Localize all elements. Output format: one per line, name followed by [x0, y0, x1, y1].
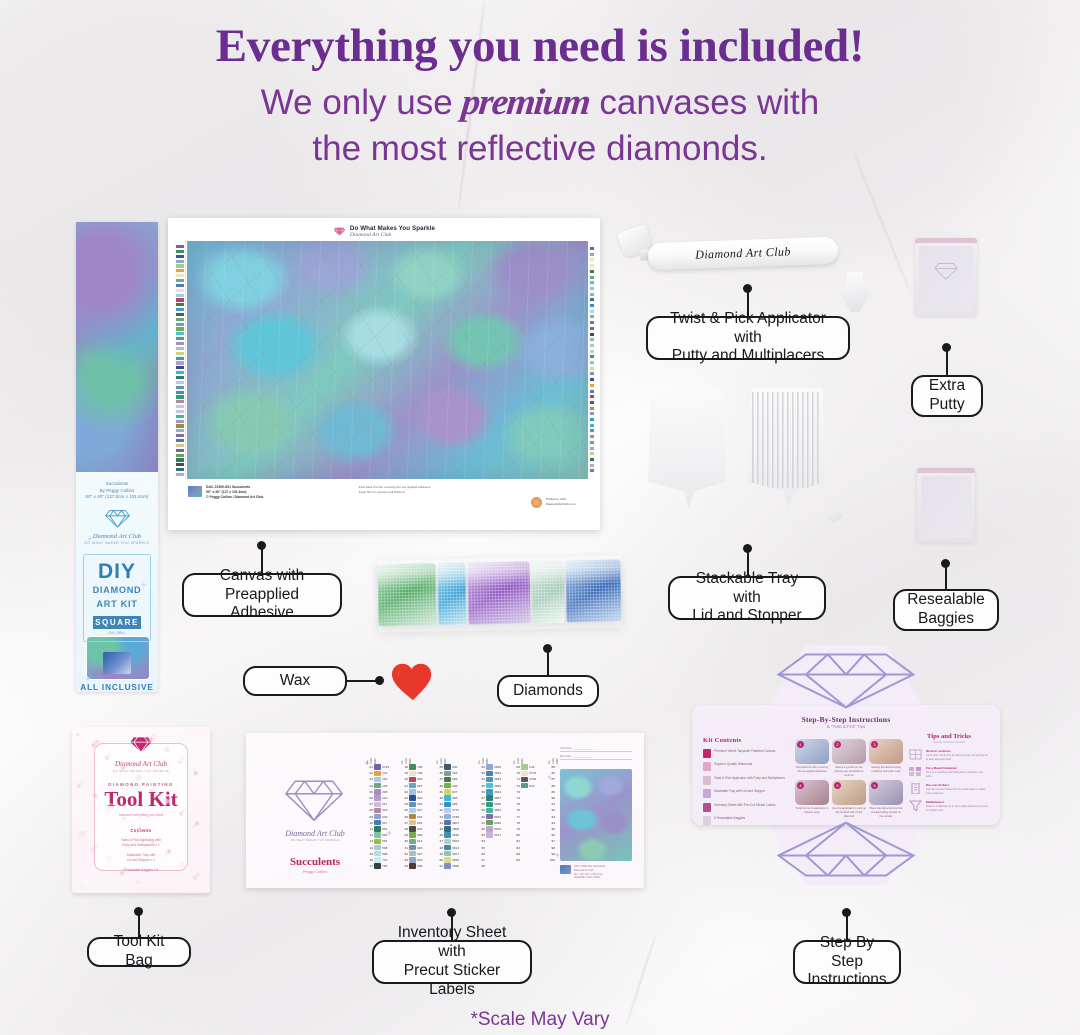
inventory-row-number: 04: [366, 784, 373, 788]
inventory-row-number: 43: [436, 815, 443, 819]
confetti-icon: ✦: [195, 871, 201, 879]
inventory-dmc-code: 3810: [452, 833, 464, 837]
confetti-icon: ◇: [151, 733, 156, 741]
inventory-color-swatch: [444, 808, 450, 813]
inventory-row-number: 36: [436, 771, 443, 775]
infographic-stage: Everything you need is included! We only…: [0, 0, 1080, 1035]
inventory-color-swatch: [374, 783, 380, 788]
inventory-color-swatch: [409, 845, 415, 850]
inventory-color-swatch: [521, 771, 527, 776]
tip-icon: [909, 749, 922, 760]
inventory-dmc-code: 802: [417, 777, 429, 781]
inventory-brand-script: Diamond Art Club: [274, 829, 356, 838]
legend-chip: [590, 361, 594, 364]
diamond-logo-icon: [282, 775, 346, 825]
inventory-row-number: 83: [513, 852, 520, 856]
inventory-color-swatch: [409, 820, 415, 825]
inventory-header-cell: DMC: [556, 751, 559, 764]
legend-chip: [176, 434, 184, 437]
leader-dot: [257, 541, 266, 550]
inventory-color-swatch: [409, 832, 415, 837]
tool-kit-content-item: Resealable Baggies x 5: [95, 868, 187, 873]
inventory-row-number: 61: [478, 821, 485, 825]
legend-chip: [176, 415, 184, 418]
inventory-dmc-code: 996: [452, 796, 464, 800]
inventory-row-number: 75: [513, 802, 520, 806]
legend-chip: [590, 367, 594, 370]
inventory-row-number: 84: [513, 858, 520, 862]
inventory-row: 34938: [401, 863, 429, 869]
instruction-step-number: 3: [871, 741, 878, 748]
inventory-row-number: 60: [478, 815, 485, 819]
inventory-header-cell: DMC: [374, 751, 377, 764]
inventory-dmc-code: 3814: [452, 846, 464, 850]
inventory-dmc-code: 930: [452, 765, 464, 769]
kit-contents-item-icon: [703, 749, 711, 758]
inventory-row-number: 29: [401, 833, 408, 837]
kit-diy-label: DIY: [87, 562, 147, 582]
inventory-row-number: 28: [401, 827, 408, 831]
inventory-dmc-code: 746: [417, 771, 429, 775]
baggie-sheen: [377, 555, 621, 632]
inventory-dmc-code: 3843: [494, 790, 506, 794]
inventory-row-number: 94: [548, 821, 555, 825]
inventory-color-swatch: [409, 802, 415, 807]
inventory-color-swatch: [409, 783, 415, 788]
inventory-color-swatch: [374, 826, 380, 831]
inventory-column-header: No.ColorDMC: [478, 751, 506, 764]
baggie-zip: [915, 238, 977, 243]
inventory-color-swatch: [374, 839, 380, 844]
inventory-row-number: 46: [436, 833, 443, 837]
inventory-color-swatch: [374, 857, 380, 862]
leader-dot: [743, 544, 752, 553]
inventory-color-swatch: [444, 839, 450, 844]
inventory-row: 17783: [366, 863, 394, 869]
canvas-seal-icon: [531, 497, 542, 508]
inventory-row-number: 44: [436, 821, 443, 825]
inventory-row-number: 14: [366, 846, 373, 850]
tips-panel: Tips and Tricks Get the most out of your…: [909, 733, 989, 812]
legend-chip: [590, 447, 594, 450]
confetti-icon: ◆: [165, 797, 170, 805]
inventory-row-number: 62: [478, 827, 485, 831]
canvas-footer: DAC-72390-S01 Succulents 50" x 40" (127 …: [174, 481, 594, 525]
inventory-dmc-code: 3851: [494, 808, 506, 812]
inventory-color-swatch: [521, 808, 527, 813]
inventory-color-swatch: [444, 863, 450, 868]
inventory-color-swatch: [521, 832, 527, 837]
inventory-column: No.ColorDMC52384053384254384355384656384…: [478, 751, 506, 869]
inventory-dmc-code: 3746: [382, 765, 394, 769]
inventory-row-number: 90: [548, 796, 555, 800]
inventory-dmc-code: 3817: [452, 852, 464, 856]
legend-chip: [176, 400, 184, 403]
inventory-color-swatch: [444, 789, 450, 794]
confetti-icon: ❁: [80, 830, 86, 838]
inventory-row-number: 56: [478, 790, 485, 794]
legend-chip: [176, 366, 184, 369]
legend-chip: [176, 255, 184, 258]
inventory-row-number: 21: [401, 784, 408, 788]
diy-kit-box: Succulents By Peggy Collins 50" x 40" (1…: [76, 222, 158, 692]
canvas-right-strip: [589, 241, 594, 479]
inventory-row-number: 30: [401, 839, 408, 843]
inventory-color-swatch: [409, 795, 415, 800]
tip-body: Use the included sticker from the pack l…: [926, 788, 989, 795]
inventory-row-number: 68: [478, 864, 485, 868]
inventory-color-swatch: [521, 839, 527, 844]
legend-chip: [590, 469, 594, 472]
kit-contents-item-icon: [703, 789, 711, 798]
callout-canvas[interactable]: Canvas with Preapplied Adhesive: [182, 573, 342, 617]
inventory-dmc-code: 3808: [452, 827, 464, 831]
inventory-row-number: 88: [548, 784, 555, 788]
legend-chip: [176, 473, 184, 476]
callout-tool-kit-bag[interactable]: Tool Kit Bag: [87, 937, 191, 967]
legend-chip: [176, 405, 184, 408]
inventory-color-swatch: [409, 857, 415, 862]
inventory-color-swatch: [409, 771, 415, 776]
diamond-outline-icon: [771, 819, 921, 881]
inventory-color-swatch: [486, 857, 492, 862]
leader-dot: [842, 908, 851, 917]
inventory-color-swatch: [444, 820, 450, 825]
canvas-color-legend-strip: [174, 241, 186, 479]
inventory-color-swatch: [374, 808, 380, 813]
kit-contents-item: Superior Quality Diamonds: [703, 762, 785, 771]
inventory-row-number: 98: [548, 846, 555, 850]
inventory-color-swatch: [374, 863, 380, 868]
kit-contents-item-label: Superior Quality Diamonds: [714, 762, 752, 767]
inventory-dmc-code: 913: [417, 839, 429, 843]
inventory-row-number: 85: [548, 765, 555, 769]
subtitle-part-1: We only use: [261, 83, 463, 122]
leader-dot: [942, 343, 951, 352]
sparkle-icon: ✦: [84, 674, 92, 685]
inventory-row-number: 24: [401, 802, 408, 806]
inventory-dmc-code: 8010: [494, 827, 506, 831]
confetti-icon: ◇: [123, 761, 128, 769]
kit-contents-item: Premium Velvet Tarpaulin Patented Canvas: [703, 749, 785, 758]
inventory-color-swatch: [486, 814, 492, 819]
kit-contents-item-icon: [703, 816, 711, 825]
inventory-color-swatch: [374, 851, 380, 856]
kit-contents-item: Stackable Tray with Lid and Stopper: [703, 789, 785, 798]
inventory-column-header: No.ColorDMC: [366, 751, 394, 764]
legend-chip: [176, 361, 184, 364]
inventory-dmc-code: 927: [417, 852, 429, 856]
confetti-icon: ❀: [150, 838, 156, 846]
inventory-color-swatch: [374, 795, 380, 800]
inventory-color-swatch: [486, 863, 492, 868]
legend-chip: [176, 250, 184, 253]
confetti-icon: ♡: [106, 856, 112, 864]
confetti-icon: ✦: [75, 731, 81, 739]
instruction-step-number: 4: [797, 782, 804, 789]
inventory-row-number: 99: [548, 852, 555, 856]
inventory-row-number: 86: [548, 771, 555, 775]
headline-subtitle: We only use premium canvases with the mo…: [0, 79, 1080, 171]
instruction-step-caption: Place the diamond onto the corresponding…: [869, 807, 903, 818]
legend-chip: [590, 395, 594, 398]
inventory-color-swatch: [521, 777, 527, 782]
inventory-row-number: 09: [366, 815, 373, 819]
inventory-column: No.ColorDMC69L4970377071379972R417374757…: [513, 751, 541, 869]
callout-extra-putty[interactable]: Extra Putty: [911, 375, 983, 417]
inventory-color-swatch: [444, 851, 450, 856]
inventory-row-number: 03: [366, 777, 373, 781]
inventory-color-swatch: [444, 777, 450, 782]
callout-tray[interactable]: Stackable Tray with Lid and Stopper: [668, 576, 826, 620]
tip-body: Close your canvas film for areas you are…: [926, 754, 989, 761]
inventory-color-swatch: [486, 777, 492, 782]
diamond-logo-icon: [104, 508, 131, 529]
inventory-dmc-code: 517: [382, 821, 394, 825]
inventory-row-number: 58: [478, 802, 485, 806]
inventory-row-number: 25: [401, 808, 408, 812]
inventory-dmc-code: 807: [417, 784, 429, 788]
legend-chip: [590, 298, 594, 301]
legend-chip: [590, 247, 594, 250]
legend-chip: [176, 245, 184, 248]
inventory-row-number: 78: [513, 821, 520, 825]
instruction-step-caption: Twist the tip of applicator to release p…: [795, 807, 829, 815]
inventory-dmc-code: 581: [382, 839, 394, 843]
inventory-color-swatch: [409, 851, 415, 856]
instruction-step-number: 5: [834, 782, 841, 789]
legend-chip: [176, 410, 184, 413]
inventory-color-swatch: [444, 802, 450, 807]
kit-contents-item: 5 Resealable Baggies: [703, 816, 785, 825]
instruction-step-image: 4: [795, 780, 829, 805]
headline-block: Everything you need is included! We only…: [0, 22, 1080, 172]
inventory-row-number: 74: [513, 796, 520, 800]
legend-chip: [590, 258, 594, 261]
sparkle-icon: ✦: [140, 580, 148, 591]
inventory-dmc-code: 906: [452, 784, 464, 788]
inventory-header-cell: Color: [370, 751, 373, 764]
inventory-artwork-thumb: [560, 769, 632, 861]
inventory-row-number: 79: [513, 827, 520, 831]
inventory-header-cell: No.: [366, 751, 369, 764]
inventory-row-number: 77: [513, 815, 520, 819]
inventory-dmc-code: 598: [382, 846, 394, 850]
inventory-dmc-code: 3839: [452, 864, 464, 868]
confetti-icon: ✺: [92, 792, 98, 800]
inventory-field: Start Date: ______________: [560, 747, 632, 752]
callout-wax[interactable]: Wax: [243, 666, 347, 696]
inventory-row-number: 20: [401, 777, 408, 781]
confetti-icon: ◆: [193, 769, 198, 777]
inventory-color-swatch: [521, 802, 527, 807]
subtitle-part-2: canvases with: [590, 83, 820, 122]
inventory-color-swatch: [521, 845, 527, 850]
instruction-step-image: 6: [869, 780, 903, 805]
inventory-dmc-code: 834: [417, 821, 429, 825]
inventory-footer-text: DAC-72390-S01 Succulents Diamond Art Clu…: [574, 865, 605, 880]
inventory-color-swatch: [521, 795, 527, 800]
inventory-dmc-code: 3807: [452, 821, 464, 825]
inventory-row-number: 70: [513, 771, 520, 775]
instruction-step-caption: Select a symbol on the canvas you would …: [832, 766, 866, 777]
callout-applicator[interactable]: Twist & Pick Applicator with Putty and M…: [646, 316, 850, 360]
tip-body: Pour in a matching color diamonds to org…: [926, 771, 989, 778]
tool-kit-bag: Diamond Art Club DO WHAT MAKES YOU SPARK…: [72, 727, 210, 893]
inventory-color-swatch: [486, 771, 492, 776]
legend-chip: [590, 441, 594, 444]
legend-chip: [176, 318, 184, 321]
inventory-date-fields: Start Date: ______________ End Date: ___…: [560, 747, 632, 762]
inventory-dmc-code: 813: [417, 790, 429, 794]
extra-putty-baggie: [915, 238, 977, 316]
inventory-row-number: 91: [548, 802, 555, 806]
kit-diy-frame: DIY DIAMOND ART KIT SQUARE FULL DRILL: [83, 554, 151, 642]
legend-chip: [590, 390, 594, 393]
inventory-header-cell: Color: [517, 751, 520, 764]
inventory-dmc-code: 3799: [529, 777, 541, 781]
legend-chip: [176, 468, 184, 471]
callout-instructions[interactable]: Step By Step Instructions: [793, 940, 901, 984]
tool-kit-tagline: Includes everything you need: [95, 813, 187, 817]
inventory-row-number: 22: [401, 790, 408, 794]
legend-chip: [176, 303, 184, 306]
step-by-step-instruction-sheet: Step-By-Step Instructions & "Twist & Pic…: [692, 645, 1000, 885]
inventory-header-cell: No.: [436, 751, 439, 764]
kit-contents-item-label: Inventory Sheet with Pre-Cut Sticker Lab…: [714, 803, 776, 808]
kit-contents-item-icon: [703, 762, 711, 771]
callout-inventory-sheet[interactable]: Inventory Sheet with Precut Sticker Labe…: [372, 940, 532, 984]
inventory-color-swatch: [486, 789, 492, 794]
instruction-step: 1Peel back the film covering the pre-app…: [795, 739, 829, 777]
inventory-dmc-code: 700: [417, 765, 429, 769]
inventory-row-number: 35: [436, 765, 443, 769]
inventory-dmc-code: 210: [382, 796, 394, 800]
inventory-row-number: 12: [366, 833, 373, 837]
legend-chip: [590, 276, 594, 279]
inventory-dmc-code: 4071: [494, 833, 506, 837]
legend-chip: [176, 449, 184, 452]
kit-contents-item: Twist & Pick Applicator with Putty and M…: [703, 776, 785, 785]
kit-box-chip: [103, 652, 131, 674]
inventory-dmc-code: 3847: [494, 796, 506, 800]
legend-chip: [590, 344, 594, 347]
inventory-row-number: 63: [478, 833, 485, 837]
premium-word: premium: [460, 79, 592, 126]
kit-contents-heading: Kit Contents: [703, 737, 785, 744]
inventory-row-number: 80: [513, 833, 520, 837]
inventory-row-number: 81: [513, 839, 520, 843]
inventory-row-number: 67: [478, 858, 485, 862]
legend-chip: [590, 264, 594, 267]
inventory-row-number: 73: [513, 790, 520, 794]
inventory-dmc-code: 208: [382, 790, 394, 794]
inventory-row-number: 05: [366, 790, 373, 794]
inventory-row-number: 47: [436, 839, 443, 843]
tip-body: Attach a multiplacer tip to set multiple…: [926, 805, 989, 812]
inventory-dmc-code: 8001: [494, 815, 506, 819]
inventory-dmc-code: 995: [452, 802, 464, 806]
callout-resealable-baggies[interactable]: Resealable Baggies: [893, 589, 999, 631]
inventory-row-number: 07: [366, 802, 373, 806]
legend-chip: [176, 439, 184, 442]
inventory-color-swatch: [444, 795, 450, 800]
inventory-color-swatch: [409, 863, 415, 868]
instruction-step-number: 2: [834, 741, 841, 748]
inventory-dmc-code: 3843: [494, 777, 506, 781]
inventory-row: 68: [478, 863, 506, 869]
inventory-color-swatch: [409, 764, 415, 769]
inventory-row-number: 23: [401, 796, 408, 800]
inventory-color-swatch: [486, 839, 492, 844]
instruction-step: 5Use the applicator to pick up the facet…: [832, 780, 866, 818]
inventory-color-swatch: [444, 764, 450, 769]
instruction-step-image: 1: [795, 739, 829, 764]
tip-title: Pre-cut stickers: [926, 783, 989, 787]
inventory-row-number: 89: [548, 790, 555, 794]
inventory-color-swatch: [409, 839, 415, 844]
inventory-color-swatch: [374, 789, 380, 794]
kit-contents-item-label: Stackable Tray with Lid and Stopper: [714, 789, 765, 794]
legend-chip: [176, 347, 184, 350]
legend-chip: [176, 323, 184, 326]
legend-chip: [176, 352, 184, 355]
inventory-row-number: 48: [436, 846, 443, 850]
inventory-color-swatch: [374, 832, 380, 837]
legend-chip: [590, 304, 594, 307]
inventory-color-swatch: [374, 845, 380, 850]
legend-chip: [590, 412, 594, 415]
inventory-dmc-code: 162: [382, 777, 394, 781]
kit-contents-item-icon: [703, 803, 711, 812]
inventory-row-number: 33: [401, 858, 408, 862]
inventory-row-number: 37: [436, 777, 443, 781]
inventory-row-number: 10: [366, 821, 373, 825]
inventory-row-number: 52: [478, 765, 485, 769]
legend-chip: [590, 315, 594, 318]
inventory-dmc-code: 905: [452, 777, 464, 781]
inventory-row-number: 55: [478, 784, 485, 788]
legend-chip: [176, 298, 184, 301]
tip-title: Multiplacers: [926, 800, 989, 804]
inventory-header-cell: Color: [552, 751, 555, 764]
inventory-header-cell: DMC: [444, 751, 447, 764]
kit-contents-item: Inventory Sheet with Pre-Cut Sticker Lab…: [703, 803, 785, 812]
legend-chip: [176, 274, 184, 277]
legend-chip: [176, 454, 184, 457]
kit-contents-panel: Kit Contents Premium Velvet Tarpaulin Pa…: [703, 737, 785, 825]
inventory-header-cell: No.: [401, 751, 404, 764]
inventory-dmc-code: 3813: [452, 839, 464, 843]
inventory-row-number: 72: [513, 784, 520, 788]
inventory-color-swatch: [521, 820, 527, 825]
callout-diamonds[interactable]: Diamonds: [497, 675, 599, 707]
inventory-row-number: 96: [548, 833, 555, 837]
inventory-color-swatch: [486, 764, 492, 769]
inventory-color-swatch: [374, 814, 380, 819]
inventory-color-swatch: [444, 771, 450, 776]
inventory-color-swatch: [409, 826, 415, 831]
inventory-row-number: 50: [436, 858, 443, 862]
confetti-icon: ❁: [164, 746, 170, 754]
kit-line-2: DIAMOND: [87, 585, 147, 597]
inventory-color-swatch: [486, 783, 492, 788]
inventory-dmc-code: 211: [382, 802, 394, 806]
confetti-icon: ✧: [79, 779, 85, 787]
inventory-row-number: 32: [401, 852, 408, 856]
inventory-row-number: 27: [401, 821, 408, 825]
tip-item: MultiplacersAttach a multiplacer tip to …: [909, 800, 989, 812]
